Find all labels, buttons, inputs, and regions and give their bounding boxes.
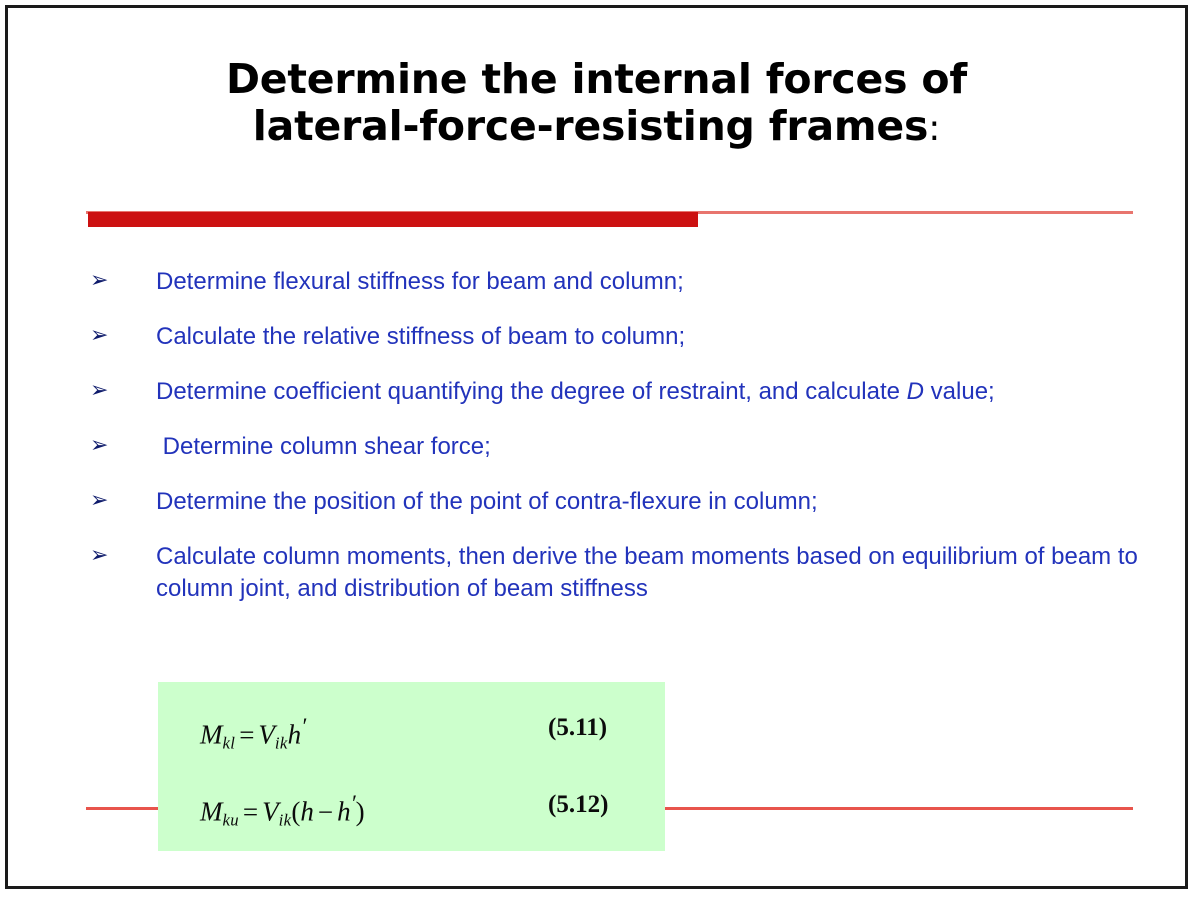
list-item-label: Determine the position of the point of c… — [156, 486, 1158, 518]
arrow-bullet-icon: ➢ — [90, 487, 108, 515]
slide-frame: Determine the internal forces of lateral… — [5, 5, 1188, 889]
eq2-lhs-subscript: ku — [223, 810, 239, 829]
eq2-open-paren: ( — [291, 797, 300, 827]
eq1-rhs-var: V — [258, 720, 275, 750]
arrow-bullet-icon: ➢ — [90, 267, 108, 295]
bullet-list: ➢ Determine flexural stiffness for beam … — [88, 266, 1158, 628]
list-item: ➢ Determine coefficient quantifying the … — [88, 376, 1158, 408]
equation-5-12-number: (5.12) — [548, 789, 608, 821]
arrow-bullet-icon: ➢ — [90, 377, 108, 405]
eq2-inner-var-1: h — [300, 797, 314, 827]
eq2-rhs-subscript: ik — [279, 810, 292, 829]
list-item: ➢ Calculate the relative stiffness of be… — [88, 321, 1158, 353]
page-title-line-1: Determine the internal forces of — [8, 56, 1185, 103]
list-item-label: Calculate column moments, then derive th… — [156, 541, 1158, 605]
eq2-equals: = — [239, 797, 262, 827]
arrow-bullet-icon: ➢ — [90, 322, 108, 350]
eq2-close-paren: ) — [356, 797, 365, 827]
page-title-line-2-text: lateral-force-resisting frames — [253, 102, 928, 150]
list-item: ➢ Determine column shear force; — [88, 431, 1158, 463]
title-underline-thick — [88, 212, 698, 227]
list-item-label: Calculate the relative stiffness of beam… — [156, 321, 1158, 353]
eq1-rhs-subscript: ik — [275, 733, 288, 752]
arrow-bullet-icon: ➢ — [90, 542, 108, 570]
equation-5-11: Mkl=Vikh′ (5.11) — [200, 710, 660, 750]
equation-5-11-number: (5.11) — [548, 712, 607, 744]
list-item-text-before: Determine coefficient quantifying the de… — [156, 378, 907, 405]
equation-box: Mkl=Vikh′ (5.11) Mku=Vik(h−h′) (5.12) — [158, 682, 665, 851]
eq1-prime-symbol: ′ — [301, 714, 306, 739]
list-item-text-after: value; — [924, 378, 995, 405]
equation-5-11-expression: Mkl=Vikh′ — [200, 710, 306, 760]
arrow-bullet-icon: ➢ — [90, 432, 108, 460]
equation-5-12: Mku=Vik(h−h′) (5.12) — [200, 787, 660, 827]
eq1-lhs-var: M — [200, 720, 223, 750]
eq1-equals: = — [235, 720, 258, 750]
list-item: ➢ Calculate column moments, then derive … — [88, 541, 1158, 605]
list-item-label: Determine coefficient quantifying the de… — [156, 376, 1158, 408]
list-item: ➢ Determine flexural stiffness for beam … — [88, 266, 1158, 298]
eq2-lhs-var: M — [200, 797, 223, 827]
eq2-rhs-var: V — [262, 797, 279, 827]
page-title-line-2: lateral-force-resisting frames: — [8, 103, 1185, 152]
eq1-height-var: h — [288, 720, 302, 750]
list-item-label: Determine column shear force; — [156, 431, 1158, 463]
slide-title: Determine the internal forces of lateral… — [8, 56, 1185, 152]
eq2-minus: − — [314, 797, 337, 827]
eq2-inner-var-2: h — [337, 797, 351, 827]
eq1-lhs-subscript: kl — [223, 733, 236, 752]
list-item-italic-symbol: D — [907, 378, 924, 405]
equation-5-12-expression: Mku=Vik(h−h′) — [200, 787, 365, 837]
list-item: ➢ Determine the position of the point of… — [88, 486, 1158, 518]
list-item-label: Determine flexural stiffness for beam an… — [156, 266, 1158, 298]
page-title-colon: : — [928, 108, 940, 149]
